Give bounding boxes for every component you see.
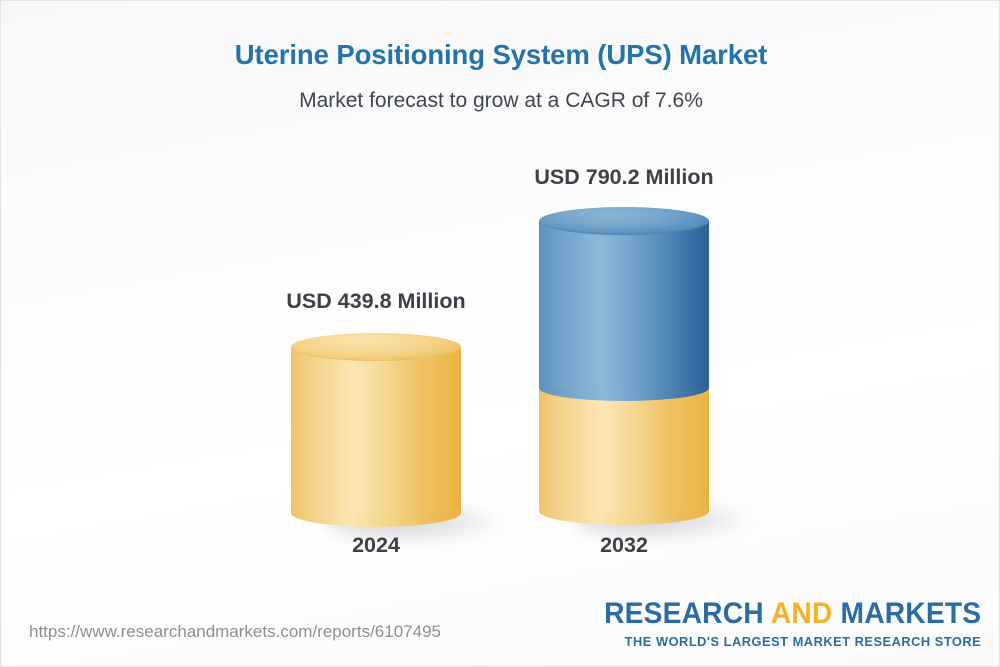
bar-2024[interactable]: USD 439.8 Million 2024 xyxy=(271,281,481,551)
cylinder-top-2032 xyxy=(539,207,709,235)
chart-canvas: Uterine Positioning System (UPS) Market … xyxy=(0,0,1000,667)
cylinder-body-2024 xyxy=(291,347,461,513)
cylinder-segment-base-2032 xyxy=(539,387,709,511)
plot-area: USD 439.8 Million 2024 USD 790.2 Million xyxy=(1,1,1000,667)
brand-word-research: RESEARCH xyxy=(604,597,771,630)
bar-2032[interactable]: USD 790.2 Million 2032 xyxy=(519,157,729,551)
brand-logo[interactable]: RESEARCH AND MARKETS THE WORLD'S LARGEST… xyxy=(580,599,981,649)
cylinder-2024 xyxy=(291,333,461,541)
cylinder-2032 xyxy=(539,207,709,539)
brand-word-and: AND xyxy=(771,597,833,630)
value-label-2024: USD 439.8 Million xyxy=(266,289,486,314)
brand-tagline: THE WORLD'S LARGEST MARKET RESEARCH STOR… xyxy=(592,634,981,649)
category-label-2024: 2024 xyxy=(291,533,461,558)
cylinder-segment-growth-2032 xyxy=(539,221,709,388)
category-label-2032: 2032 xyxy=(539,533,709,558)
brand-word-markets: MARKETS xyxy=(832,597,981,630)
source-url[interactable]: https://www.researchandmarkets.com/repor… xyxy=(29,622,441,642)
brand-wordmark: RESEARCH AND MARKETS xyxy=(604,599,981,629)
cylinder-top-2024 xyxy=(291,333,461,361)
value-label-2032: USD 790.2 Million xyxy=(514,165,734,190)
